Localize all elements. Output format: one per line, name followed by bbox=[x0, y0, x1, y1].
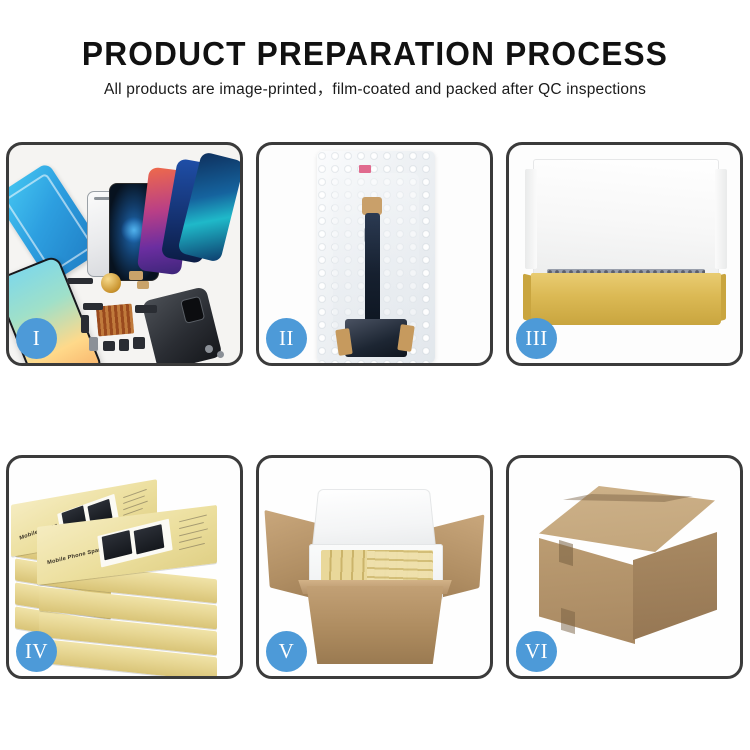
small-part-g bbox=[89, 337, 98, 351]
step-panel-4[interactable]: Mobile Phone Spare Parts Mobile Phone Sp… bbox=[6, 455, 243, 679]
page-title: PRODUCT PREPARATION PROCESS bbox=[15, 34, 735, 74]
step-panel-3[interactable]: III bbox=[506, 142, 743, 366]
small-part-b bbox=[129, 271, 143, 280]
bubble-wrap-bag bbox=[317, 151, 435, 363]
flex-cable bbox=[365, 213, 380, 325]
sealed-carton-front bbox=[539, 538, 635, 644]
box-spec-line-2e bbox=[179, 543, 205, 551]
lcd-module bbox=[345, 319, 407, 357]
small-part-c bbox=[137, 281, 149, 289]
pink-label-sticker bbox=[359, 165, 371, 173]
box-spec-line-2c bbox=[179, 528, 208, 536]
small-part-i bbox=[119, 339, 129, 351]
carton-tape-upper bbox=[559, 540, 573, 566]
step-panel-5[interactable]: V bbox=[256, 455, 493, 679]
step-badge-2: II bbox=[266, 318, 307, 359]
box-spec-line-2b bbox=[179, 522, 204, 529]
small-part-h bbox=[103, 341, 115, 351]
small-part-f bbox=[135, 305, 157, 313]
step-badge-3: III bbox=[516, 318, 557, 359]
step-panel-1[interactable]: I bbox=[6, 142, 243, 366]
kraft-tray-front bbox=[531, 273, 721, 325]
small-part-a bbox=[67, 278, 93, 284]
step-badge-6: VI bbox=[516, 631, 557, 672]
carton-tape-lower bbox=[561, 608, 575, 634]
step-badge-1: I bbox=[16, 318, 57, 359]
carton-body bbox=[299, 586, 451, 664]
screw-part-a bbox=[205, 345, 213, 353]
page-header: PRODUCT PREPARATION PROCESS All products… bbox=[0, 0, 750, 101]
vibration-motor-part bbox=[101, 273, 121, 293]
box-spec-line-2d bbox=[179, 536, 202, 543]
step-badge-4: IV bbox=[16, 631, 57, 672]
screw-part-b bbox=[217, 351, 224, 358]
page-subtitle: All products are image-printed，film-coat… bbox=[0, 79, 750, 101]
step-panel-6[interactable]: VI bbox=[506, 455, 743, 679]
box-spec-line-1a bbox=[123, 489, 147, 499]
step-panel-2[interactable]: II bbox=[256, 142, 493, 366]
small-part-e bbox=[81, 315, 89, 333]
small-part-j bbox=[133, 337, 145, 349]
step-badge-5: V bbox=[266, 631, 307, 672]
process-steps-grid: I II III bbox=[6, 142, 744, 742]
white-inner-lid bbox=[533, 159, 719, 279]
small-part-d bbox=[83, 303, 103, 310]
